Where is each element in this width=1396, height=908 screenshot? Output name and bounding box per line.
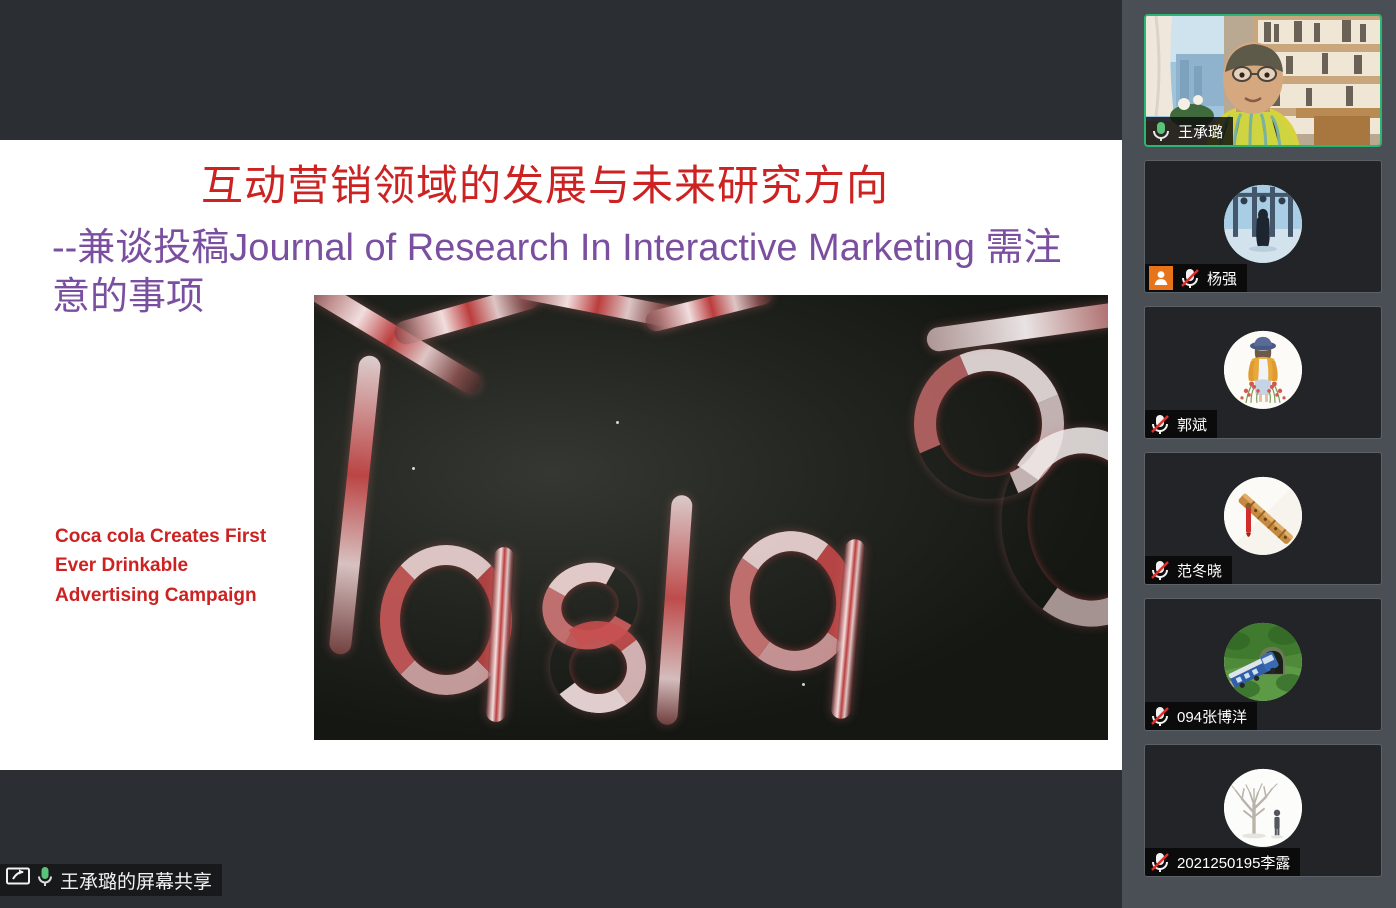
participant-name-strip: 杨强 xyxy=(1145,264,1247,292)
photo-speck xyxy=(802,683,805,686)
microphone-muted-icon xyxy=(1149,413,1171,435)
microphone-unmuted-icon xyxy=(36,865,54,895)
participant-name: 杨强 xyxy=(1207,268,1237,289)
photo-speck xyxy=(616,421,619,424)
avatar xyxy=(1224,768,1302,846)
participant-tile-zhang-boyang[interactable]: 094张博洋 xyxy=(1144,598,1382,731)
slide-title: 互动营销领域的发展与未来研究方向 xyxy=(0,162,1090,209)
participant-tile-li-lu[interactable]: 2021250195李露 xyxy=(1144,744,1382,877)
screen-share-icon xyxy=(6,867,30,893)
microphone-muted-icon xyxy=(1149,559,1171,581)
avatar xyxy=(1224,184,1302,262)
participant-tile-yang-qiang[interactable]: 杨强 xyxy=(1144,160,1382,293)
microphone-muted-icon xyxy=(1149,705,1171,727)
participant-name: 范冬晓 xyxy=(1177,560,1222,581)
participant-tile-guo-bin[interactable]: 郭斌 xyxy=(1144,306,1382,439)
participant-name: 2021250195李露 xyxy=(1177,852,1290,873)
participant-name-strip: 郭斌 xyxy=(1145,410,1217,438)
share-banner-label: 王承璐的屏幕共享 xyxy=(60,867,212,894)
screen-share-banner: 王承璐的屏幕共享 xyxy=(0,864,222,896)
avatar xyxy=(1224,476,1302,554)
slide-photo-neon-taste xyxy=(314,295,1108,740)
presentation-slide: 互动营销领域的发展与未来研究方向 --兼谈投稿Journal of Resear… xyxy=(0,140,1122,770)
microphone-unmuted-icon xyxy=(1150,120,1172,142)
avatar xyxy=(1224,330,1302,408)
microphone-muted-icon xyxy=(1179,267,1201,289)
participant-name-strip: 范冬晓 xyxy=(1145,556,1232,584)
microphone-muted-icon xyxy=(1149,851,1171,873)
host-person-icon xyxy=(1149,266,1173,290)
participant-tile-fan-dongxiao[interactable]: 范冬晓 xyxy=(1144,452,1382,585)
photo-speck xyxy=(412,467,415,470)
participant-name-strip: 2021250195李露 xyxy=(1145,848,1300,876)
participant-tile-wang-chenglu[interactable]: 王承璐 xyxy=(1144,14,1382,147)
zoom-meeting-window: 互动营销领域的发展与未来研究方向 --兼谈投稿Journal of Resear… xyxy=(0,0,1396,908)
participant-name-strip: 王承璐 xyxy=(1146,117,1233,145)
participant-name: 郭斌 xyxy=(1177,414,1207,435)
participant-name: 王承璐 xyxy=(1178,121,1223,142)
participant-filmstrip[interactable]: 王承璐 xyxy=(1122,0,1396,908)
participant-name: 094张博洋 xyxy=(1177,706,1247,727)
slide-caption: Coca cola Creates First Ever Drinkable A… xyxy=(55,522,295,610)
shared-screen-stage[interactable]: 互动营销领域的发展与未来研究方向 --兼谈投稿Journal of Resear… xyxy=(0,0,1122,908)
avatar xyxy=(1224,622,1302,700)
participant-name-strip: 094张博洋 xyxy=(1145,702,1257,730)
